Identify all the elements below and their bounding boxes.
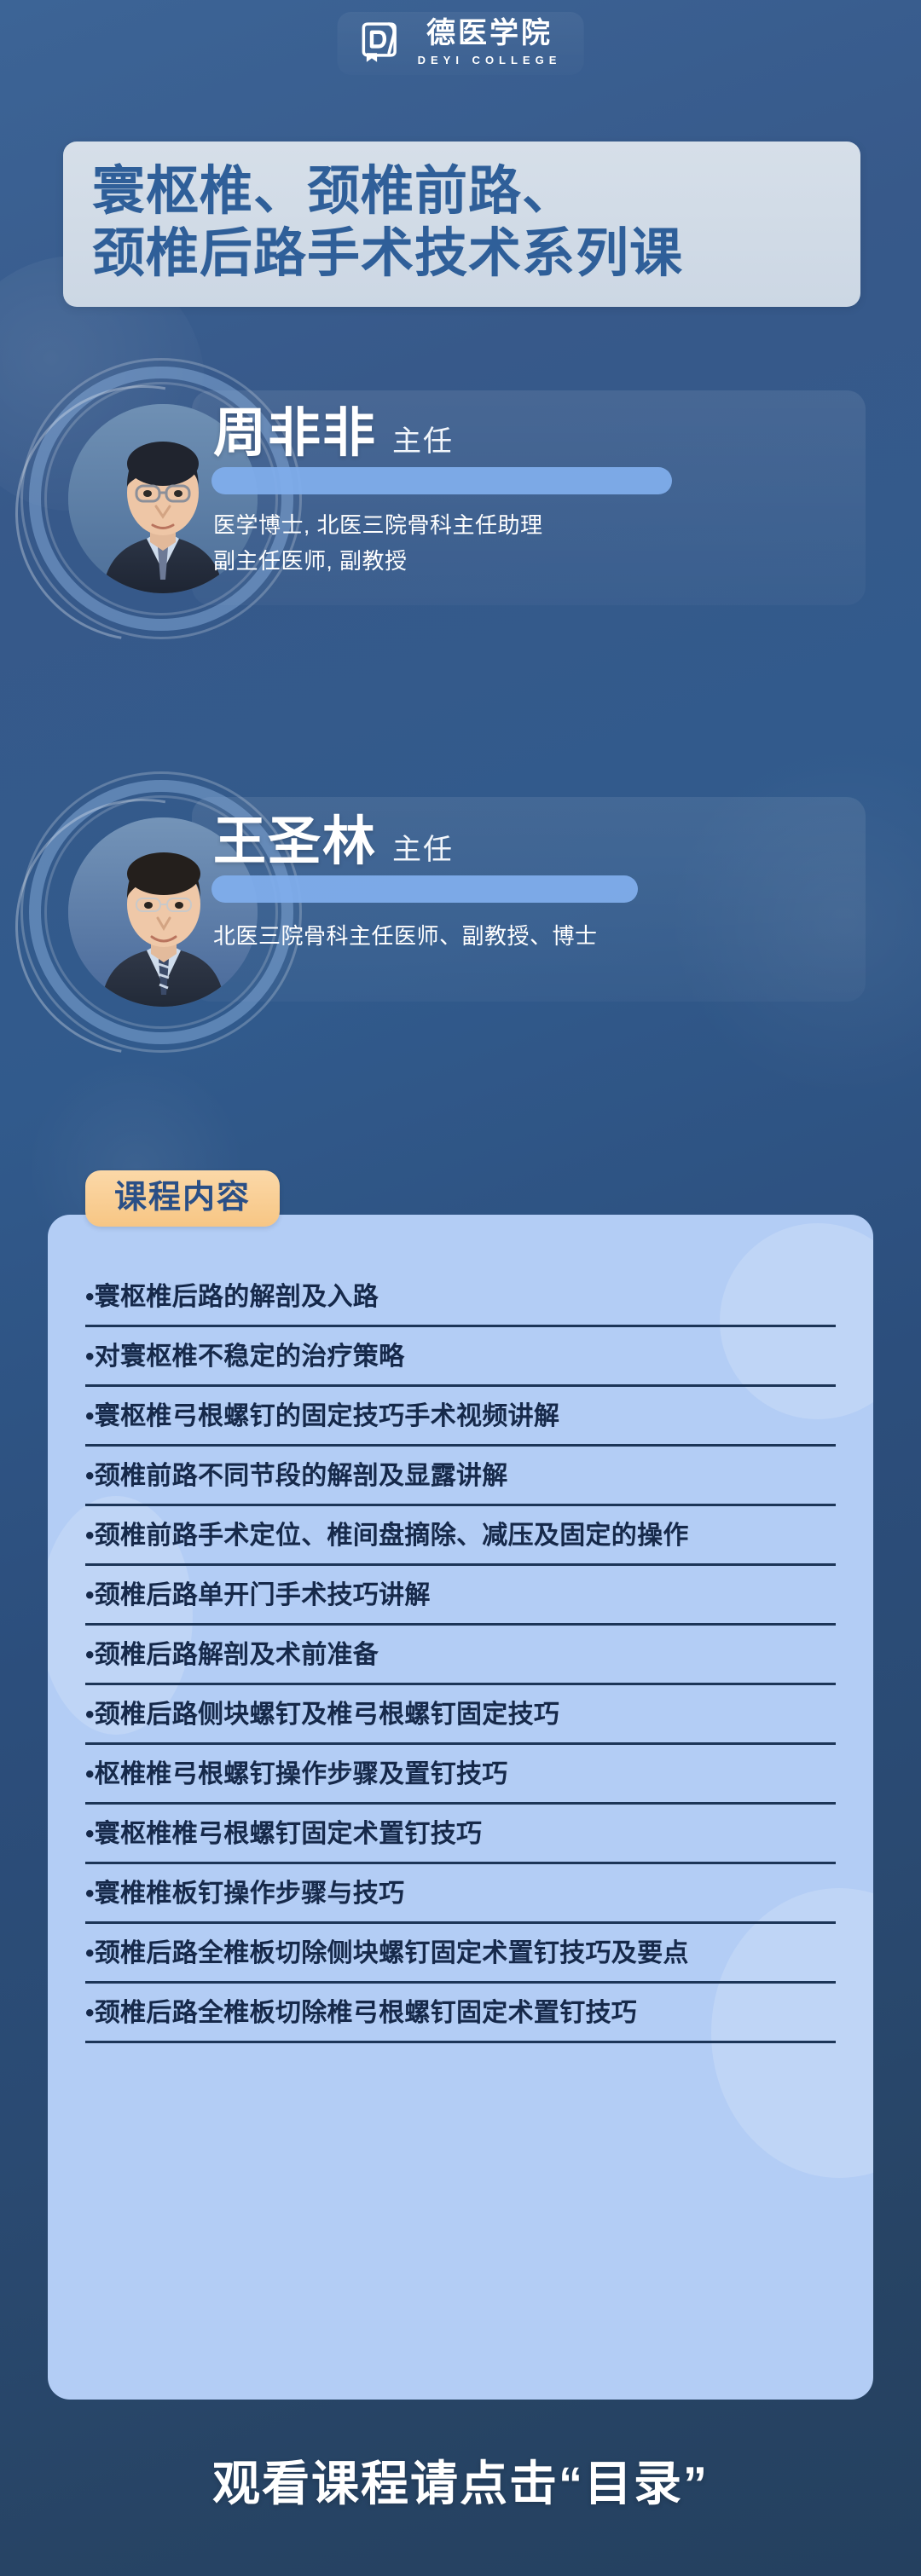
list-item[interactable]: •颈椎后路单开门手术技巧讲解 <box>85 1566 836 1626</box>
list-item[interactable]: •寰枢椎弓根螺钉的固定技巧手术视频讲解 <box>85 1387 836 1447</box>
list-item[interactable]: •颈椎后路解剖及术前准备 <box>85 1626 836 1685</box>
instructor-bio-line: 北医三院骨科主任医师、副教授、博士 <box>213 918 827 954</box>
list-item[interactable]: •颈椎后路侧块螺钉及椎弓根螺钉固定技巧 <box>85 1685 836 1745</box>
course-item-label: •寰枢椎椎弓根螺钉固定术置钉技巧 <box>85 1820 836 1848</box>
instructor-name: 周非非 <box>213 407 377 460</box>
brand-name-cn: 德医学院 <box>426 19 553 48</box>
course-item-label: •寰椎椎板钉操作步骤与技巧 <box>85 1880 836 1908</box>
page-title-card: 寰枢椎、颈椎前路、 颈椎后路手术技术系列课 <box>63 142 860 307</box>
instructor-card-1: 周非非 主任 医学博士, 北医三院骨科主任助理 副主任医师, 副教授 <box>0 358 921 639</box>
course-item-label: •枢椎椎弓根螺钉操作步骤及置钉技巧 <box>85 1760 836 1788</box>
course-item-label: •颈椎后路侧块螺钉及椎弓根螺钉固定技巧 <box>85 1701 836 1729</box>
instructor-name: 王圣林 <box>213 816 377 869</box>
course-item-label: •对寰枢椎不稳定的治疗策略 <box>85 1343 836 1371</box>
course-content-card: •寰枢椎后路的解剖及入路 •对寰枢椎不稳定的治疗策略 •寰枢椎弓根螺钉的固定技巧… <box>48 1215 873 2400</box>
avatar-decorative-rings-1 <box>15 351 322 650</box>
brand-name-en: DEYI COLLEGE <box>418 54 562 66</box>
course-item-label: •颈椎后路解剖及术前准备 <box>85 1641 836 1669</box>
instructor-bio-1: 医学博士, 北医三院骨科主任助理 副主任医师, 副教授 <box>213 507 827 579</box>
list-item[interactable]: •颈椎后路全椎板切除侧块螺钉固定术置钉技巧及要点 <box>85 1924 836 1984</box>
list-item[interactable]: •颈椎前路手术定位、椎间盘摘除、减压及固定的操作 <box>85 1506 836 1566</box>
instructor-bio-2: 北医三院骨科主任医师、副教授、博士 <box>213 918 827 954</box>
instructor-card-2: 王圣林 主任 北医三院骨科主任医师、副教授、博士 <box>0 771 921 1053</box>
book-logo-icon <box>356 19 404 66</box>
instructor-bio-line: 医学博士, 北医三院骨科主任助理 <box>213 507 827 543</box>
section-header-pill: 课程内容 <box>85 1170 280 1227</box>
course-item-label: •寰枢椎弓根螺钉的固定技巧手术视频讲解 <box>85 1402 836 1430</box>
section-header-label: 课程内容 <box>114 1180 251 1216</box>
footer: 观看课程请点击“目录” <box>0 2455 921 2512</box>
list-item[interactable]: •寰枢椎椎弓根螺钉固定术置钉技巧 <box>85 1805 836 1864</box>
instructor-name-row-1: 周非非 主任 <box>213 407 454 460</box>
instructor-bio-line: 副主任医师, 副教授 <box>213 543 827 579</box>
list-item[interactable]: •颈椎前路不同节段的解剖及显露讲解 <box>85 1447 836 1506</box>
brand-logo-text: 德医学院 DEYI COLLEGE <box>418 19 562 66</box>
course-item-label: •颈椎前路手术定位、椎间盘摘除、减压及固定的操作 <box>85 1522 836 1550</box>
list-item[interactable]: •颈椎后路全椎板切除椎弓根螺钉固定术置钉技巧 <box>85 1984 836 2043</box>
course-item-label: •颈椎前路不同节段的解剖及显露讲解 <box>85 1462 836 1490</box>
course-item-label: •寰枢椎后路的解剖及入路 <box>85 1283 836 1311</box>
page-title-line-2: 颈椎后路手术技术系列课 <box>92 222 835 285</box>
list-item[interactable]: •枢椎椎弓根螺钉操作步骤及置钉技巧 <box>85 1745 836 1805</box>
footer-cta-text: 观看课程请点击“目录” <box>0 2455 921 2512</box>
brand-logo: 德医学院 DEYI COLLEGE <box>338 12 584 75</box>
list-item[interactable]: •对寰枢椎不稳定的治疗策略 <box>85 1327 836 1387</box>
poster-root: 德医学院 DEYI COLLEGE 寰枢椎、颈椎前路、 颈椎后路手术技术系列课 <box>0 0 921 2576</box>
instructor-name-row-2: 王圣林 主任 <box>213 816 454 869</box>
course-item-label: •颈椎后路全椎板切除侧块螺钉固定术置钉技巧及要点 <box>85 1939 836 1967</box>
avatar-decorative-rings-2 <box>15 765 322 1063</box>
name-underline-bar-2 <box>211 875 638 903</box>
list-item[interactable]: •寰枢椎后路的解剖及入路 <box>85 1268 836 1327</box>
name-underline-bar-1 <box>211 467 672 494</box>
instructor-title: 主任 <box>392 835 454 869</box>
course-item-label: •颈椎后路全椎板切除椎弓根螺钉固定术置钉技巧 <box>85 1999 836 2027</box>
course-list: •寰枢椎后路的解剖及入路 •对寰枢椎不稳定的治疗策略 •寰枢椎弓根螺钉的固定技巧… <box>85 1268 836 2043</box>
course-item-label: •颈椎后路单开门手术技巧讲解 <box>85 1581 836 1609</box>
list-item[interactable]: •寰椎椎板钉操作步骤与技巧 <box>85 1864 836 1924</box>
instructor-title: 主任 <box>392 427 454 460</box>
page-title-line-1: 寰枢椎、颈椎前路、 <box>92 160 835 222</box>
